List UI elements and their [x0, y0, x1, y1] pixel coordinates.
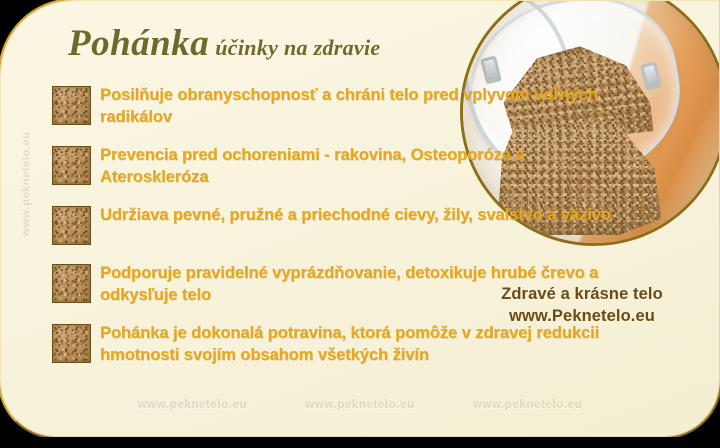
footer-watermark: www.peknetelo.eu [305, 399, 415, 411]
side-watermark-text: www.peknetelo.eu [21, 131, 33, 236]
list-item-label: Udržiava pevné, pružné a priechodné ciev… [100, 204, 611, 226]
footer-watermark: www.peknetelo.eu [138, 399, 248, 411]
side-watermark: www.peknetelo.eu [16, 58, 38, 358]
list-item-label: Pohánka je dokonalá potravina, ktorá pom… [100, 322, 612, 365]
list-item: Udržiava pevné, pružné a priechodné ciev… [52, 204, 612, 245]
list-item: Posilňuje obranyschopnosť a chráni telo … [52, 84, 612, 127]
buckwheat-grain-swatch-icon [52, 324, 91, 363]
bottom-black-strip [0, 437, 720, 448]
list-item-label: Posilňuje obranyschopnosť a chráni telo … [100, 84, 612, 127]
list-item-label: Prevencia pred ochoreniami - rakovina, O… [100, 144, 612, 187]
list-item: Prevencia pred ochoreniami - rakovina, O… [52, 144, 612, 187]
buckwheat-grain-swatch-icon [52, 264, 91, 303]
buckwheat-grain-swatch-icon [52, 206, 91, 245]
buckwheat-grain-swatch-icon [52, 146, 91, 185]
list-item: Pohánka je dokonalá potravina, ktorá pom… [52, 322, 612, 365]
caption-line-2: www.Peknetelo.eu [468, 305, 696, 327]
site-caption: Zdravé a krásne telo www.Peknetelo.eu [468, 283, 696, 328]
poster-card: www.peknetelo.eu Pohánkaúčinky na zdravi… [0, 0, 720, 437]
page-title: Pohánkaúčinky na zdravie [68, 22, 380, 65]
title-subtitle: účinky na zdravie [215, 35, 380, 60]
infographic-poster: www.peknetelo.eu Pohánkaúčinky na zdravi… [0, 0, 720, 448]
title-main: Pohánka [68, 23, 209, 64]
footer-watermarks: www.peknetelo.eu www.peknetelo.eu www.pe… [0, 393, 720, 437]
footer-watermark: www.peknetelo.eu [473, 399, 583, 411]
caption-line-1: Zdravé a krásne telo [468, 283, 696, 305]
buckwheat-grain-swatch-icon [52, 86, 91, 125]
benefits-list: Posilňuje obranyschopnosť a chráni telo … [52, 84, 612, 383]
